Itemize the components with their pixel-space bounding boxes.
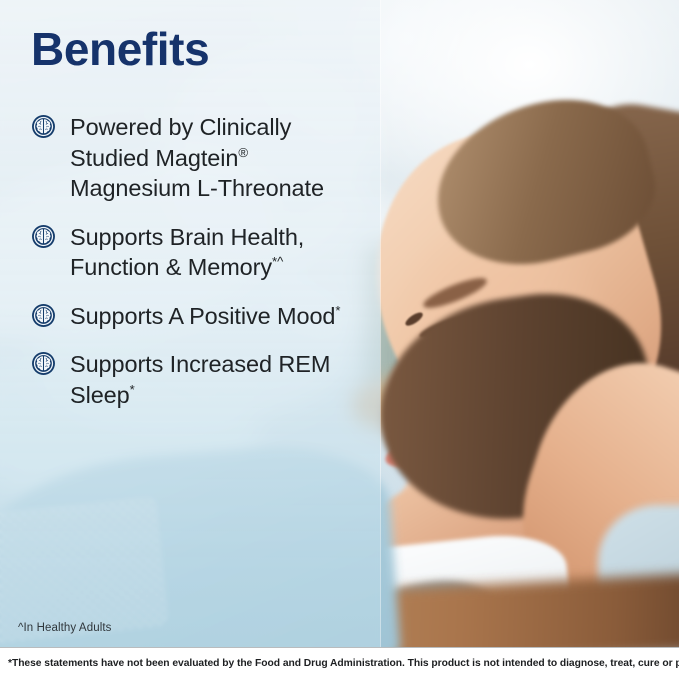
brain-icon <box>31 224 56 249</box>
benefits-list: Powered by Clinically Studied Magtein® M… <box>31 112 370 410</box>
list-item-label: Supports Brain Health, Function & Memory… <box>70 222 370 283</box>
benefits-content: Benefits <box>0 0 380 648</box>
brain-icon <box>31 303 56 328</box>
list-item: Supports Increased REM Sleep* <box>31 349 370 410</box>
list-item-label: Supports A Positive Mood* <box>70 301 340 332</box>
list-item: Supports A Positive Mood* <box>31 301 370 332</box>
fda-disclaimer-text: *These statements have not been evaluate… <box>0 658 679 669</box>
list-item-label: Supports Increased REM Sleep* <box>70 349 370 410</box>
footnote-marker: *^ <box>272 254 283 269</box>
list-item: Powered by Clinically Studied Magtein® M… <box>31 112 370 204</box>
fda-disclaimer-bar: *These statements have not been evaluate… <box>0 647 679 679</box>
brain-icon <box>31 351 56 376</box>
list-item-label: Powered by Clinically Studied Magtein® M… <box>70 112 370 204</box>
product-benefits-image: Benefits <box>0 0 679 679</box>
healthy-adults-footnote: ^In Healthy Adults <box>18 622 112 634</box>
footnote-marker: * <box>335 303 340 318</box>
brain-icon <box>31 114 56 139</box>
list-item: Supports Brain Health, Function & Memory… <box>31 222 370 283</box>
footnote-marker: * <box>130 382 135 397</box>
page-title: Benefits <box>31 26 209 72</box>
